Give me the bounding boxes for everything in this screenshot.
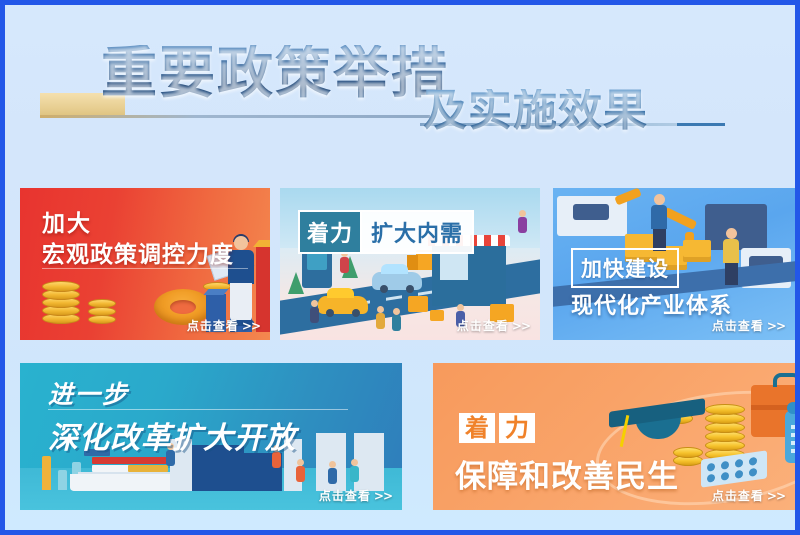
robot-arm-icon bbox=[663, 207, 698, 230]
card4-title-line2: 深化改革扩大开放 bbox=[48, 413, 296, 457]
card3-cta-label: 点击查看 bbox=[712, 319, 764, 333]
card2-cta-label: 点击查看 bbox=[457, 319, 509, 333]
card5-badge-char-2: 力 bbox=[499, 413, 535, 443]
card5-title-line2: 保障和改善民生 bbox=[455, 451, 679, 496]
dock-structure bbox=[354, 433, 384, 491]
card5-badge-zhuli: 着 力 bbox=[459, 413, 535, 443]
person-icon bbox=[310, 300, 318, 323]
card5-badge-char-1: 着 bbox=[459, 413, 495, 443]
card3-cta[interactable]: 点击查看>> bbox=[712, 317, 785, 334]
person-icon bbox=[296, 459, 304, 482]
person-icon bbox=[376, 306, 384, 329]
header-title-dash bbox=[677, 123, 725, 126]
card5-cta[interactable]: 点击查看>> bbox=[712, 487, 785, 504]
header-rule-left bbox=[40, 115, 430, 118]
card2-title: 着力 扩大内需 bbox=[298, 210, 474, 254]
card5-cta-label: 点击查看 bbox=[712, 489, 764, 503]
robot-arm-icon bbox=[614, 188, 641, 206]
parcel-icon bbox=[430, 310, 444, 321]
tree-icon bbox=[288, 272, 304, 294]
card-jiada-hongguan[interactable]: 加大 宏观政策调控力度 点击查看>> bbox=[20, 188, 270, 340]
card4-cta[interactable]: 点击查看>> bbox=[319, 487, 392, 504]
worker-icon bbox=[651, 194, 667, 251]
person-icon bbox=[328, 461, 336, 484]
card4-title-line1: 进一步 bbox=[48, 375, 129, 411]
person-icon bbox=[350, 459, 358, 482]
card2-badge-zhuli: 着力 bbox=[298, 210, 362, 254]
graduation-cap-icon bbox=[609, 405, 705, 431]
card-jiakuai-jianshe[interactable]: 加快建设 现代化产业体系 点击查看>> bbox=[553, 188, 795, 340]
card4-title-underline bbox=[48, 409, 348, 410]
dock-post-icon bbox=[58, 470, 67, 490]
card2-cta[interactable]: 点击查看>> bbox=[457, 317, 530, 334]
card3-title-line1: 加快建设 bbox=[571, 248, 679, 288]
page-title-sub: 及实施效果 bbox=[423, 89, 648, 133]
medicine-jar-icon bbox=[785, 411, 795, 463]
person-icon bbox=[518, 210, 526, 233]
card2-cta-arrows-icon: >> bbox=[512, 319, 530, 333]
card2-title-line2: 扩大内需 bbox=[362, 210, 474, 254]
card1-cta-arrows-icon: >> bbox=[242, 319, 260, 333]
card1-cta-label: 点击查看 bbox=[187, 319, 239, 333]
card-zhuli-kuoda-neixu[interactable]: 着力 扩大内需 点击查看>> bbox=[280, 188, 540, 340]
card-jinyibu-shenhua[interactable]: 进一步 深化改革扩大开放 点击查看>> bbox=[20, 363, 402, 510]
card3-title-line2: 现代化产业体系 bbox=[571, 288, 732, 320]
card5-cta-arrows-icon: >> bbox=[767, 489, 785, 503]
page-title-main: 重要政策举措 bbox=[101, 45, 449, 101]
page-header: 重要政策举措 及实施效果 bbox=[5, 5, 795, 180]
card-zhuli-baozhang[interactable]: 着 力 保障和改善民生 点击查看>> bbox=[433, 363, 795, 510]
person-icon bbox=[392, 308, 400, 331]
dock-post-icon bbox=[42, 456, 51, 490]
card1-title-line2: 宏观政策调控力度 bbox=[42, 235, 234, 269]
card1-title-line1: 加大 bbox=[42, 204, 92, 238]
card1-cta[interactable]: 点击查看>> bbox=[187, 317, 260, 334]
machine-screen-icon bbox=[573, 204, 609, 220]
card4-cta-arrows-icon: >> bbox=[374, 489, 392, 503]
card4-cta-label: 点击查看 bbox=[319, 489, 371, 503]
card1-title-underline bbox=[42, 268, 248, 269]
car-yellow-icon bbox=[318, 296, 368, 314]
parcel-icon bbox=[408, 296, 428, 312]
car-blue-icon bbox=[372, 272, 422, 290]
crate-icon bbox=[683, 240, 711, 262]
card3-cta-arrows-icon: >> bbox=[767, 319, 785, 333]
worker-icon bbox=[723, 228, 739, 285]
page-root: 重要政策举措 及实施效果 加大 宏观政策调控力度 点击查看>> bbox=[5, 5, 795, 530]
